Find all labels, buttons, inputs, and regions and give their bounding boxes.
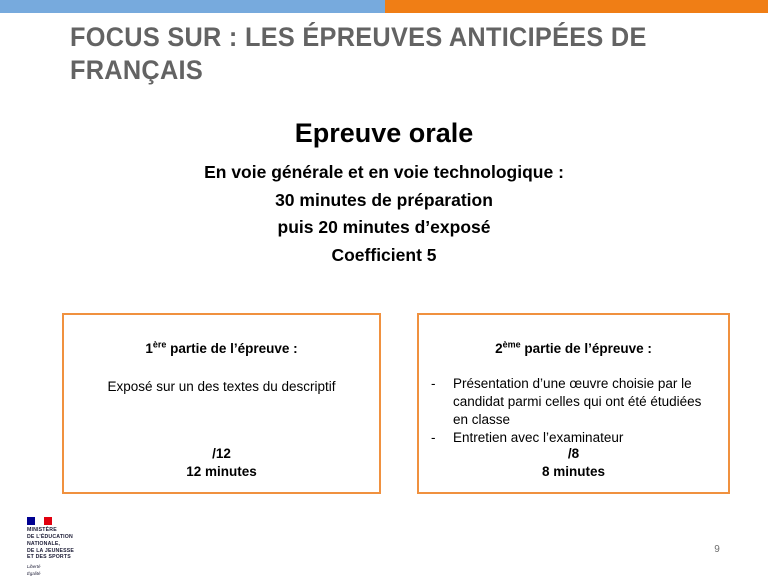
slide-canvas: Focus sur : les épreuves anticipées de f… — [0, 0, 768, 576]
part-one-duration: 12 minutes — [64, 463, 379, 481]
heading-line-2: 30 minutes de préparation — [84, 187, 684, 215]
part-one-body: Exposé sur un des textes du descriptif — [64, 378, 379, 396]
part-two-box: 2ème partie de l’épreuve : - Présentatio… — [417, 313, 730, 494]
heading-main: Epreuve orale — [84, 118, 684, 150]
page-number: 9 — [706, 544, 728, 555]
part-two-duration: 8 minutes — [419, 463, 728, 481]
heading-line-1: En voie générale et en voie technologiqu… — [84, 159, 684, 187]
slide-title: Focus sur : les épreuves anticipées de f… — [70, 21, 700, 88]
republic-motto: Liberté Égalité Fraternité — [27, 564, 105, 576]
part-one-footer: /12 12 minutes — [64, 445, 379, 481]
part-two-bullet-1-text: Présentation d’une œuvre choisie par le … — [453, 375, 720, 428]
part-two-title-rest: partie de l’épreuve : — [521, 341, 652, 356]
list-item: - Présentation d’une œuvre choisie par l… — [431, 375, 720, 428]
ministry-logo: MINISTÈRE DE L’ÉDUCATION NATIONALE, DE L… — [27, 517, 105, 576]
part-one-box: 1ère partie de l’épreuve : Exposé sur un… — [62, 313, 381, 494]
heading-line-3: puis 20 minutes d’exposé — [84, 214, 684, 242]
topbar-orange-accent — [385, 0, 768, 13]
french-flag-icon — [27, 517, 52, 525]
part-one-title: 1ère partie de l’épreuve : — [64, 341, 379, 356]
part-two-footer: /8 8 minutes — [419, 445, 728, 481]
part-two-title-number: 2 — [495, 341, 503, 356]
topbar-blue-accent — [0, 0, 385, 13]
part-one-title-ordinal: ère — [153, 340, 167, 350]
heading-block: Epreuve orale En voie générale et en voi… — [84, 118, 684, 269]
part-one-title-rest: partie de l’épreuve : — [166, 341, 297, 356]
part-two-bullet-list: - Présentation d’une œuvre choisie par l… — [419, 375, 728, 447]
part-two-title: 2ème partie de l’épreuve : — [419, 341, 728, 356]
part-one-score: /12 — [64, 445, 379, 463]
ministry-name: MINISTÈRE DE L’ÉDUCATION NATIONALE, DE L… — [27, 527, 105, 561]
bullet-dash-icon: - — [431, 375, 453, 393]
part-two-title-ordinal: ème — [503, 340, 521, 350]
part-one-title-number: 1 — [145, 341, 153, 356]
part-two-score: /8 — [419, 445, 728, 463]
heading-line-4: Coefficient 5 — [84, 242, 684, 270]
